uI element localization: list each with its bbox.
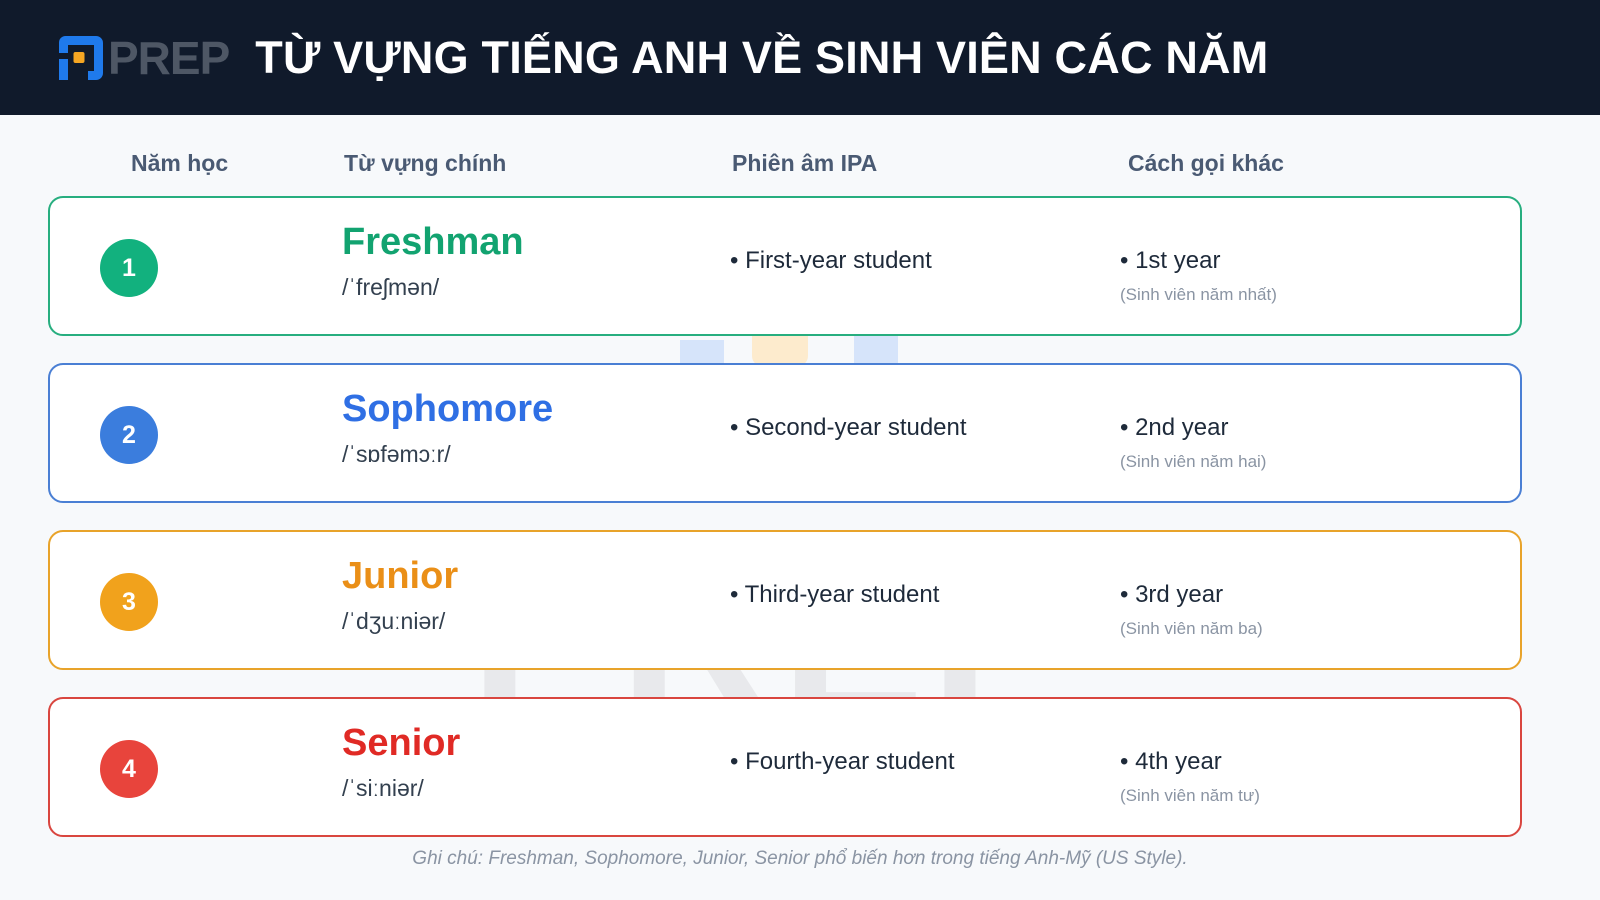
alt-name-column: • First-year student [730,247,1100,275]
other-name-column: • 4th year (Sinh viên năm tư) [1120,748,1500,806]
ipa-transcription: /ˈdʒuːniər/ [342,608,712,635]
other-name: • 4th year [1120,748,1500,776]
prep-logo-mark-icon [52,29,110,87]
column-headers: Năm học Từ vựng chính Phiên âm IPA Cách … [48,150,1522,190]
word-column: Junior /ˈdʒuːniər/ [342,555,712,635]
alt-name: • First-year student [730,247,1100,275]
vocabulary-word: Freshman [342,221,712,264]
page-header: PREP TỪ VỰNG TIẾNG ANH VỀ SINH VIÊN CÁC … [0,0,1600,115]
brand-logo-text: PREP [108,35,229,81]
alt-name-column: • Second-year student [730,414,1100,442]
other-name-column: • 1st year (Sinh viên năm nhất) [1120,247,1500,305]
brand-logo: PREP [52,29,229,87]
vocabulary-row-senior: 4 Senior /ˈsiːniər/ • Fourth-year studen… [48,697,1522,837]
vocabulary-word: Sophomore [342,388,712,431]
word-column: Sophomore /ˈsɒfəmɔːr/ [342,388,712,468]
ipa-transcription: /ˈsɒfəmɔːr/ [342,441,712,468]
ipa-transcription: /ˈfreʃmən/ [342,274,712,301]
column-header-cach-goi-khac: Cách gọi khác [1128,150,1284,177]
footer-note: Ghi chú: Freshman, Sophomore, Junior, Se… [0,848,1600,870]
alt-name: • Fourth-year student [730,748,1100,776]
page-title: TỪ VỰNG TIẾNG ANH VỀ SINH VIÊN CÁC NĂM [255,35,1268,80]
other-name: • 1st year [1120,247,1500,275]
other-name-vietnamese: (Sinh viên năm tư) [1120,786,1500,806]
alt-name-column: • Fourth-year student [730,748,1100,776]
other-name: • 2nd year [1120,414,1500,442]
column-header-nam-hoc: Năm học [131,150,228,177]
other-name-column: • 2nd year (Sinh viên năm hai) [1120,414,1500,472]
vocabulary-word: Senior [342,722,712,765]
ipa-transcription: /ˈsiːniər/ [342,775,712,802]
alt-name-column: • Third-year student [730,581,1100,609]
word-column: Freshman /ˈfreʃmən/ [342,221,712,301]
year-badge: 1 [100,239,158,297]
other-name-vietnamese: (Sinh viên năm ba) [1120,619,1500,639]
other-name-vietnamese: (Sinh viên năm nhất) [1120,285,1500,305]
alt-name: • Third-year student [730,581,1100,609]
other-name: • 3rd year [1120,581,1500,609]
other-name-column: • 3rd year (Sinh viên năm ba) [1120,581,1500,639]
word-column: Senior /ˈsiːniər/ [342,722,712,802]
column-header-tu-vung-chinh: Từ vựng chính [344,150,506,177]
year-badge: 4 [100,740,158,798]
vocabulary-row-freshman: 1 Freshman /ˈfreʃmən/ • First-year stude… [48,196,1522,336]
alt-name: • Second-year student [730,414,1100,442]
year-badge: 2 [100,406,158,464]
infographic-page: PREP TỪ VỰNG TIẾNG ANH VỀ SINH VIÊN CÁC … [0,0,1600,900]
vocabulary-row-junior: 3 Junior /ˈdʒuːniər/ • Third-year studen… [48,530,1522,670]
vocabulary-row-sophomore: 2 Sophomore /ˈsɒfəmɔːr/ • Second-year st… [48,363,1522,503]
year-badge: 3 [100,573,158,631]
column-header-phien-am-ipa: Phiên âm IPA [732,150,877,177]
other-name-vietnamese: (Sinh viên năm hai) [1120,452,1500,472]
vocabulary-word: Junior [342,555,712,598]
